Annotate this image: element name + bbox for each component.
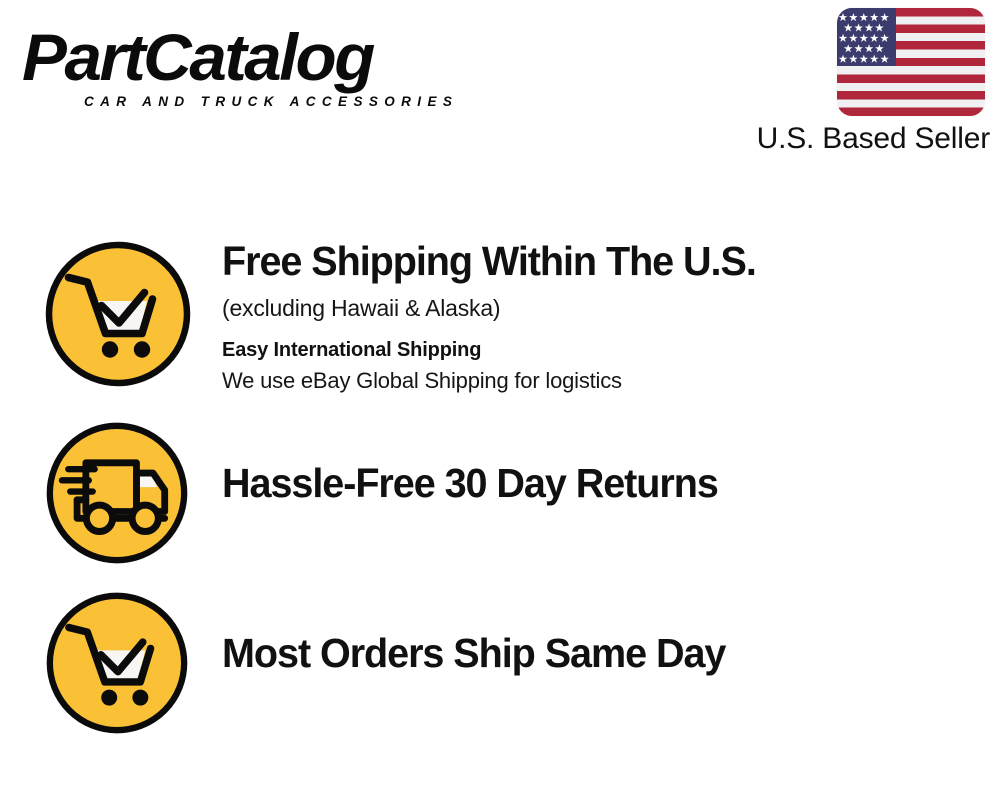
feature-subdetail: We use eBay Global Shipping for logistic… bbox=[222, 366, 980, 396]
feature-headline: Free Shipping Within The U.S. bbox=[222, 236, 953, 286]
feature-text-block: Most Orders Ship Same Day bbox=[222, 628, 980, 678]
feature-row: Free Shipping Within The U.S. (excluding… bbox=[0, 234, 1000, 404]
shopping-cart-check-icon bbox=[43, 239, 193, 389]
delivery-truck-icon bbox=[44, 420, 190, 566]
feature-text-block: Hassle-Free 30 Day Returns bbox=[222, 458, 980, 508]
us-based-seller-badge: U.S. Based Seller bbox=[694, 8, 994, 158]
feature-row: Hassle-Free 30 Day Returns bbox=[0, 420, 1000, 570]
feature-subline: (excluding Hawaii & Alaska) bbox=[222, 292, 980, 324]
shopping-cart-check-icon bbox=[44, 590, 190, 736]
page-header: PartCatalog CAR AND TRUCK ACCESSORIES bbox=[0, 0, 1000, 170]
flag-canton bbox=[837, 8, 896, 66]
promo-banner-page: PartCatalog CAR AND TRUCK ACCESSORIES bbox=[0, 0, 1000, 800]
feature-list: Free Shipping Within The U.S. (excluding… bbox=[0, 170, 1000, 770]
brand-logo[interactable]: PartCatalog CAR AND TRUCK ACCESSORIES bbox=[22, 22, 492, 117]
feature-row: Most Orders Ship Same Day bbox=[0, 590, 1000, 750]
feature-text-block: Free Shipping Within The U.S. (excluding… bbox=[222, 236, 980, 396]
feature-headline: Most Orders Ship Same Day bbox=[222, 628, 953, 678]
feature-subhead: Easy International Shipping bbox=[222, 336, 980, 364]
seller-badge-label: U.S. Based Seller bbox=[757, 120, 990, 158]
feature-headline: Hassle-Free 30 Day Returns bbox=[222, 458, 953, 508]
logo-tagline: CAR AND TRUCK ACCESSORIES bbox=[84, 94, 458, 110]
logo-wordmark: PartCatalog bbox=[22, 22, 373, 92]
us-flag-icon bbox=[837, 8, 985, 116]
